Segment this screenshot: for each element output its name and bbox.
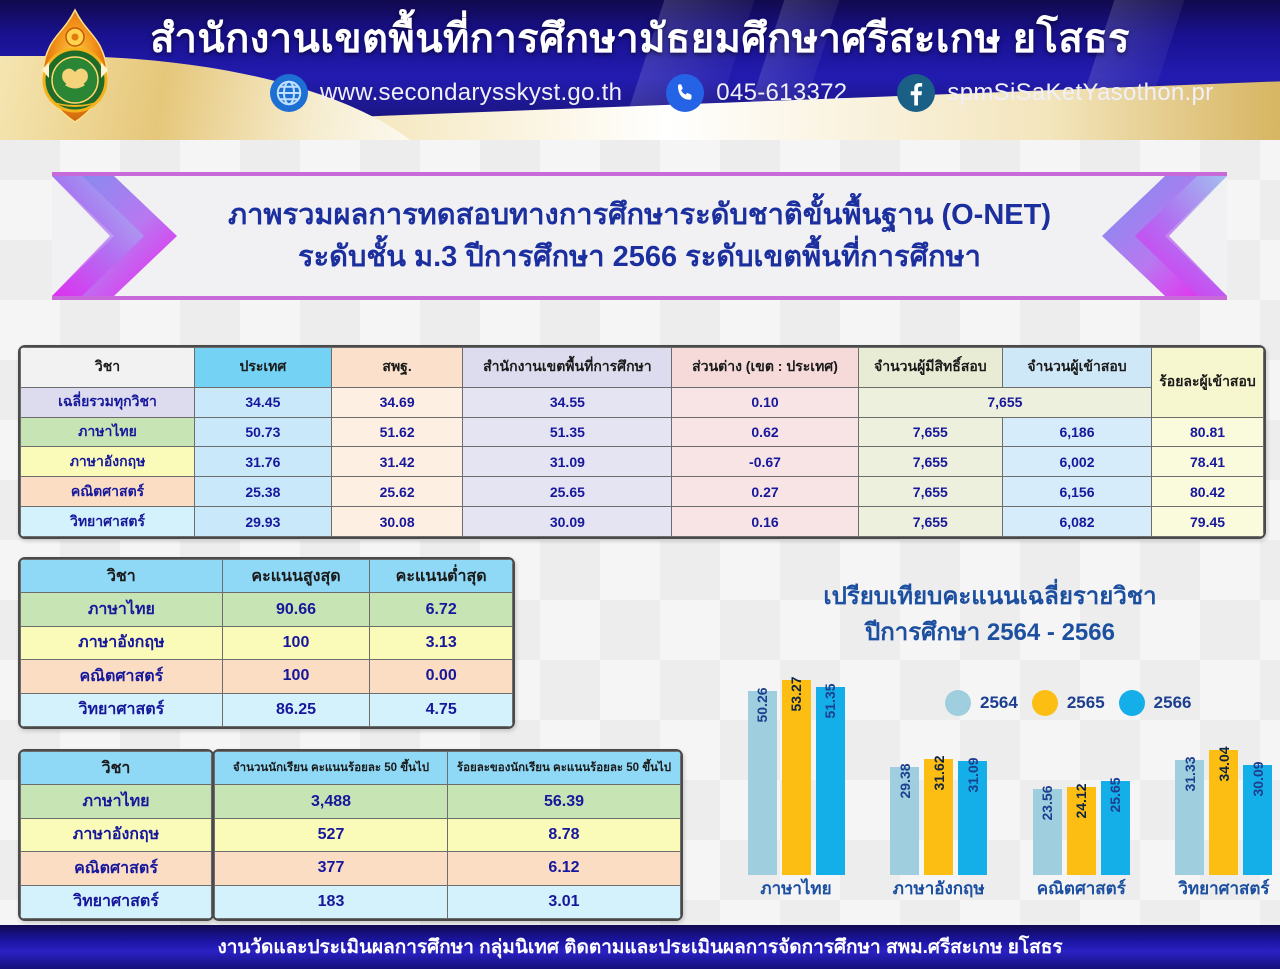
cell-area: 34.55 — [463, 387, 672, 417]
col-header-subject: วิชา — [21, 752, 212, 785]
cell-student-percent: 6.12 — [448, 852, 681, 885]
over50-subject-table: วิชา ภาษาไทย ภาษาอังกฤษ คณิตศาสตร์ วิทยา… — [18, 749, 214, 921]
banner-line-1: ภาพรวมผลการทดสอบทางการศึกษาระดับชาติขั้น… — [228, 199, 1051, 231]
col-header-student-count: จำนวนนักเรียน คะแนนร้อยละ 50 ขึ้นไป — [215, 752, 448, 785]
phone-text: 045-613372 — [716, 79, 847, 107]
chart-group-4: 31.3334.0430.09 — [1168, 670, 1280, 875]
cell-attended: 6,156 — [1002, 477, 1151, 507]
chart-bar-2565-คณิตศาสตร์[interactable]: 24.12 — [1067, 787, 1096, 875]
subject-average-comparison-chart: เปรียบเทียบคะแนนเฉลี่ยรายวิชา ปีการศึกษา… — [700, 575, 1280, 915]
cell-subject: ภาษาไทย — [21, 593, 223, 626]
table-row: ภาษาอังกฤษ — [21, 818, 212, 851]
table-row: เฉลี่ยรวมทุกวิชา 34.45 34.69 34.55 0.10 … — [21, 387, 1264, 417]
cell-eligible: 7,655 — [858, 477, 1002, 507]
col-header-subject: วิชา — [21, 348, 195, 388]
col-header-area-office: สำนักงานเขตพื้นที่การศึกษา — [463, 348, 672, 388]
table-row: ภาษาอังกฤษ 31.76 31.42 31.09 -0.67 7,655… — [21, 447, 1264, 477]
site-header: สำนักงานเขตพื้นที่การศึกษามัธยมศึกษาศรีส… — [0, 0, 1280, 140]
chart-bar-value-label: 31.62 — [931, 756, 947, 791]
chart-title-line-1: เปรียบเทียบคะแนนเฉลี่ยรายวิชา — [823, 583, 1156, 610]
table-row: คณิตศาสตร์ — [21, 852, 212, 885]
cell-subject: วิทยาศาสตร์ — [21, 693, 223, 726]
cell-eligible: 7,655 — [858, 507, 1002, 537]
cell-obec: 51.62 — [331, 417, 463, 447]
cell-country: 50.73 — [195, 417, 332, 447]
chart-bar-2564-ภาษาไทย[interactable]: 50.26 — [748, 691, 777, 875]
table-row: ภาษาไทย 90.66 6.72 — [21, 593, 513, 626]
banner-line-2: ระดับชั้น ม.3 ปีการศึกษา 2566 ระดับเขตพื… — [182, 236, 1097, 278]
cell-obec: 31.42 — [331, 447, 463, 477]
col-header-obec: สพฐ. — [331, 348, 463, 388]
table-row: วิทยาศาสตร์ — [21, 885, 212, 918]
table-row: วิทยาศาสตร์ 86.25 4.75 — [21, 693, 513, 726]
cell-subject: ภาษาอังกฤษ — [21, 626, 223, 659]
table-header-row: วิชา — [21, 752, 212, 785]
over50-values-table: จำนวนนักเรียน คะแนนร้อยละ 50 ขึ้นไป ร้อย… — [212, 749, 683, 921]
chart-bar-2565-วิทยาศาสตร์[interactable]: 34.04 — [1209, 750, 1238, 875]
col-header-student-percent: ร้อยละของนักเรียน คะแนนร้อยละ 50 ขึ้นไป — [448, 752, 681, 785]
col-header-min-score: คะแนนต่ำสุด — [370, 560, 513, 593]
chart-bar-value-label: 34.04 — [1216, 747, 1232, 782]
cell-obec: 34.69 — [331, 387, 463, 417]
cell-subject: วิทยาศาสตร์ — [21, 885, 212, 918]
table-row: คณิตศาสตร์ 25.38 25.62 25.65 0.27 7,655 … — [21, 477, 1264, 507]
chart-bar-value-label: 53.27 — [788, 676, 804, 711]
table-row: ภาษาไทย 50.73 51.62 51.35 0.62 7,655 6,1… — [21, 417, 1264, 447]
chart-bar-value-label: 23.56 — [1039, 785, 1055, 820]
cell-area: 30.09 — [463, 507, 672, 537]
chevron-decoration-right — [1102, 176, 1227, 296]
x-label-science: วิทยาศาสตร์ — [1168, 875, 1280, 902]
phone-contact[interactable]: 045-613372 — [666, 74, 847, 112]
cell-student-percent: 3.01 — [448, 885, 681, 918]
chart-x-axis-labels: ภาษาไทย ภาษาอังกฤษ คณิตศาสตร์ วิทยาศาสตร… — [740, 875, 1280, 902]
cell-min-score: 3.13 — [370, 626, 513, 659]
chart-group-3: 23.5624.1225.65 — [1025, 670, 1137, 875]
chart-title: เปรียบเทียบคะแนนเฉลี่ยรายวิชา ปีการศึกษา… — [700, 579, 1280, 651]
cell-obec: 25.62 — [331, 477, 463, 507]
cell-attended: 6,186 — [1002, 417, 1151, 447]
phone-icon — [666, 74, 704, 112]
chart-bar-value-label: 29.38 — [897, 764, 913, 799]
chart-group-1: 50.2653.2751.35 — [740, 670, 852, 875]
chart-bar-value-label: 25.65 — [1107, 778, 1123, 813]
table-row: 527 8.78 — [215, 818, 681, 851]
cell-difference: 0.10 — [672, 387, 858, 417]
cell-subject: ภาษาไทย — [21, 417, 195, 447]
cell-student-count: 3,488 — [215, 785, 448, 818]
table-row: 183 3.01 — [215, 885, 681, 918]
cell-student-count: 527 — [215, 818, 448, 851]
col-header-subject: วิชา — [21, 560, 223, 593]
cell-min-score: 4.75 — [370, 693, 513, 726]
table-header-row: วิชา คะแนนสูงสุด คะแนนต่ำสุด — [21, 560, 513, 593]
cell-country: 34.45 — [195, 387, 332, 417]
chart-bar-value-label: 50.26 — [754, 687, 770, 722]
chart-bar-value-label: 30.09 — [1250, 761, 1266, 796]
cell-area: 51.35 — [463, 417, 672, 447]
cell-attend-percent: 80.81 — [1152, 417, 1264, 447]
col-header-difference: ส่วนต่าง (เขต : ประเทศ) — [672, 348, 858, 388]
table-row: 3,488 56.39 — [215, 785, 681, 818]
chart-bar-value-label: 51.35 — [822, 684, 838, 719]
col-header-eligible: จำนวนผู้มีสิทธิ์สอบ — [858, 348, 1002, 388]
x-label-thai: ภาษาไทย — [740, 875, 852, 902]
facebook-icon — [897, 74, 935, 112]
report-title-banner: ภาพรวมผลการทดสอบทางการศึกษาระดับชาติขั้น… — [52, 172, 1227, 300]
facebook-contact[interactable]: spmSiSaKetYasothon.pr — [897, 74, 1213, 112]
col-header-attend-percent: ร้อยละผู้เข้าสอบ — [1152, 348, 1264, 418]
facebook-text: spmSiSaKetYasothon.pr — [947, 79, 1213, 107]
chart-bar-value-label: 31.33 — [1182, 757, 1198, 792]
website-contact[interactable]: www.secondarysskyst.go.th — [270, 74, 622, 112]
cell-area: 25.65 — [463, 477, 672, 507]
chart-bar-2566-วิทยาศาสตร์[interactable]: 30.09 — [1243, 765, 1272, 875]
cell-eligible: 7,655 — [858, 417, 1002, 447]
chart-bar-2564-ภาษาอังกฤษ[interactable]: 29.38 — [890, 767, 919, 875]
cell-attend-percent: 80.42 — [1152, 477, 1264, 507]
page-title: สำนักงานเขตพื้นที่การศึกษามัธยมศึกษาศรีส… — [0, 6, 1280, 70]
cell-subject: ภาษาไทย — [21, 785, 212, 818]
cell-student-count: 377 — [215, 852, 448, 885]
cell-difference: 0.27 — [672, 477, 858, 507]
cell-max-score: 100 — [222, 626, 370, 659]
cell-min-score: 0.00 — [370, 660, 513, 693]
chart-bar-2566-คณิตศาสตร์[interactable]: 25.65 — [1101, 781, 1130, 875]
col-header-attended: จำนวนผู้เข้าสอบ — [1002, 348, 1151, 388]
cell-attend-percent: 79.45 — [1152, 507, 1264, 537]
cell-difference: 0.62 — [672, 417, 858, 447]
cell-student-percent: 8.78 — [448, 818, 681, 851]
onet-summary-table: วิชา ประเทศ สพฐ. สำนักงานเขตพื้นที่การศึ… — [18, 345, 1266, 539]
cell-min-score: 6.72 — [370, 593, 513, 626]
cell-subject: คณิตศาสตร์ — [21, 852, 212, 885]
page-footer: งานวัดและประเมินผลการศึกษา กลุ่มนิเทศ ติ… — [0, 925, 1280, 969]
cell-subject: วิทยาศาสตร์ — [21, 507, 195, 537]
cell-student-percent: 56.39 — [448, 785, 681, 818]
col-header-country: ประเทศ — [195, 348, 332, 388]
table-header-row: วิชา ประเทศ สพฐ. สำนักงานเขตพื้นที่การศึ… — [21, 348, 1264, 388]
chart-bar-2564-วิทยาศาสตร์[interactable]: 31.33 — [1175, 760, 1204, 875]
cell-max-score: 100 — [222, 660, 370, 693]
chart-plot-area: 50.2653.2751.3529.3831.6231.0923.5624.12… — [740, 670, 1280, 875]
globe-icon — [270, 74, 308, 112]
cell-obec: 30.08 — [331, 507, 463, 537]
cell-subject: เฉลี่ยรวมทุกวิชา — [21, 387, 195, 417]
col-header-max-score: คะแนนสูงสุด — [222, 560, 370, 593]
x-label-english: ภาษาอังกฤษ — [883, 875, 995, 902]
chart-subtitle: ปีการศึกษา 2564 - 2566 — [700, 615, 1280, 651]
table-row: ภาษาไทย — [21, 785, 212, 818]
cell-max-score: 90.66 — [222, 593, 370, 626]
cell-eligible: 7,655 — [858, 447, 1002, 477]
chart-bar-value-label: 31.09 — [965, 758, 981, 793]
cell-attend-percent: 78.41 — [1152, 447, 1264, 477]
table-row: วิทยาศาสตร์ 29.93 30.08 30.09 0.16 7,655… — [21, 507, 1264, 537]
cell-difference: 0.16 — [672, 507, 858, 537]
table-row: 377 6.12 — [215, 852, 681, 885]
cell-attended: 6,082 — [1002, 507, 1151, 537]
cell-subject: ภาษาอังกฤษ — [21, 818, 212, 851]
chart-bar-2566-ภาษาอังกฤษ[interactable]: 31.09 — [958, 761, 987, 875]
chart-bar-2565-ภาษาไทย[interactable]: 53.27 — [782, 680, 811, 875]
cell-eligible-merged: 7,655 — [858, 387, 1151, 417]
cell-country: 31.76 — [195, 447, 332, 477]
chart-group-2: 29.3831.6231.09 — [883, 670, 995, 875]
chart-bar-2566-ภาษาไทย[interactable]: 51.35 — [816, 687, 845, 875]
cell-attended: 6,002 — [1002, 447, 1151, 477]
chart-bar-value-label: 24.12 — [1073, 783, 1089, 818]
minmax-score-table: วิชา คะแนนสูงสุด คะแนนต่ำสุด ภาษาไทย 90.… — [18, 557, 515, 729]
cell-subject: ภาษาอังกฤษ — [21, 447, 195, 477]
cell-subject: คณิตศาสตร์ — [21, 660, 223, 693]
table-row: คณิตศาสตร์ 100 0.00 — [21, 660, 513, 693]
table-header-row: จำนวนนักเรียน คะแนนร้อยละ 50 ขึ้นไป ร้อย… — [215, 752, 681, 785]
banner-text: ภาพรวมผลการทดสอบทางการศึกษาระดับชาติขั้น… — [182, 194, 1097, 278]
website-text: www.secondarysskyst.go.th — [320, 79, 622, 107]
table-row: ภาษาอังกฤษ 100 3.13 — [21, 626, 513, 659]
cell-max-score: 86.25 — [222, 693, 370, 726]
contact-row: www.secondarysskyst.go.th 045-613372 spm… — [270, 74, 1280, 112]
chevron-decoration-left — [52, 176, 177, 296]
footer-text: งานวัดและประเมินผลการศึกษา กลุ่มนิเทศ ติ… — [217, 932, 1062, 962]
x-label-math: คณิตศาสตร์ — [1025, 875, 1137, 902]
cell-student-count: 183 — [215, 885, 448, 918]
cell-subject: คณิตศาสตร์ — [21, 477, 195, 507]
chart-bar-2565-ภาษาอังกฤษ[interactable]: 31.62 — [924, 759, 953, 875]
chart-bar-2564-คณิตศาสตร์[interactable]: 23.56 — [1033, 789, 1062, 875]
cell-area: 31.09 — [463, 447, 672, 477]
cell-country: 29.93 — [195, 507, 332, 537]
cell-country: 25.38 — [195, 477, 332, 507]
cell-difference: -0.67 — [672, 447, 858, 477]
